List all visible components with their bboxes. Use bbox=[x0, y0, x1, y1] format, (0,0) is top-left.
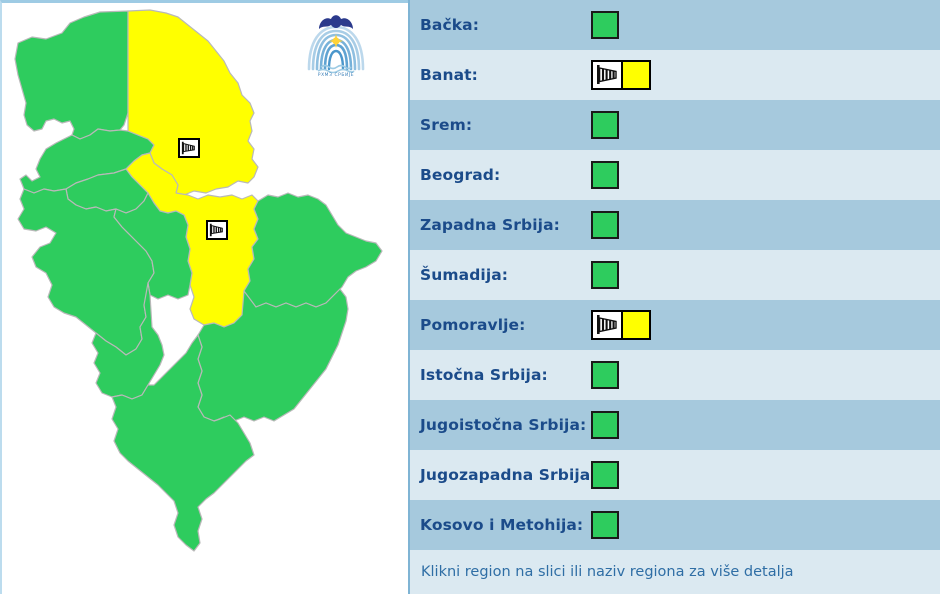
warning-badge-banat bbox=[591, 60, 651, 90]
warning-badge-jugoistocna-srbija bbox=[591, 411, 619, 439]
level-swatch-backa bbox=[591, 11, 619, 39]
region-label-srem[interactable]: Srem: bbox=[420, 116, 591, 134]
region-row-pomoravlje[interactable]: Pomoravlje: bbox=[410, 300, 940, 350]
region-label-backa[interactable]: Bačka: bbox=[420, 16, 591, 34]
map-region-istocna-srbija[interactable] bbox=[244, 193, 382, 307]
level-swatch-sumadija bbox=[591, 261, 619, 289]
region-row-zapadna-srbija[interactable]: Zapadna Srbija: bbox=[410, 200, 940, 250]
weather-warning-widget: РХМЗ СРБИЈЕ Bačka:Banat: Srem:Beograd:Za… bbox=[0, 0, 940, 594]
region-label-jugoistocna-srbija[interactable]: Jugoistočna Srbija: bbox=[420, 416, 591, 434]
level-swatch-pomoravlje bbox=[621, 310, 651, 340]
warning-badge-pomoravlje bbox=[591, 310, 651, 340]
serbia-map-svg bbox=[2, 3, 408, 594]
region-row-jugozapadna-srbija[interactable]: Jugozapadna Srbija: bbox=[410, 450, 940, 500]
windsock-icon bbox=[593, 62, 621, 88]
region-row-kosovo-i-metohija[interactable]: Kosovo i Metohija: bbox=[410, 500, 940, 550]
windsock-icon bbox=[593, 312, 621, 338]
region-label-istocna-srbija[interactable]: Istočna Srbija: bbox=[420, 366, 591, 384]
serbia-warning-map[interactable]: РХМЗ СРБИЈЕ bbox=[0, 0, 408, 594]
warning-badge-zapadna-srbija bbox=[591, 211, 619, 239]
level-swatch-istocna-srbija bbox=[591, 361, 619, 389]
footer-hint-text: Klikni region na slici ili naziv regiona… bbox=[421, 564, 794, 580]
region-row-banat[interactable]: Banat: bbox=[410, 50, 940, 100]
level-swatch-beograd bbox=[591, 161, 619, 189]
region-row-istocna-srbija[interactable]: Istočna Srbija: bbox=[410, 350, 940, 400]
warning-badge-kosovo-i-metohija bbox=[591, 511, 619, 539]
region-label-pomoravlje[interactable]: Pomoravlje: bbox=[420, 316, 591, 334]
level-swatch-kosovo-i-metohija bbox=[591, 511, 619, 539]
region-label-banat[interactable]: Banat: bbox=[420, 66, 591, 84]
region-row-srem[interactable]: Srem: bbox=[410, 100, 940, 150]
windsock-marker-pomoravlje[interactable] bbox=[206, 220, 228, 240]
level-swatch-jugoistocna-srbija bbox=[591, 411, 619, 439]
logo-caption: РХМЗ СРБИЈЕ bbox=[318, 72, 354, 77]
rhmz-srbije-logo: РХМЗ СРБИЈЕ bbox=[305, 11, 367, 77]
logo-cloud-icon bbox=[319, 15, 353, 29]
warning-badge-beograd bbox=[591, 161, 619, 189]
region-row-sumadija[interactable]: Šumadija: bbox=[410, 250, 940, 300]
logo-svg: РХМЗ СРБИЈЕ bbox=[305, 11, 367, 77]
warning-badge-istocna-srbija bbox=[591, 361, 619, 389]
windsock-indicator-banat bbox=[591, 60, 621, 90]
region-warning-list: Bačka:Banat: Srem:Beograd:Zapadna Srbija… bbox=[408, 0, 940, 594]
region-label-kosovo-i-metohija[interactable]: Kosovo i Metohija: bbox=[420, 516, 591, 534]
region-label-beograd[interactable]: Beograd: bbox=[420, 166, 591, 184]
map-region-backa[interactable] bbox=[15, 11, 128, 139]
region-row-beograd[interactable]: Beograd: bbox=[410, 150, 940, 200]
windsock-marker-banat[interactable] bbox=[178, 138, 200, 158]
level-swatch-jugozapadna-srbija bbox=[591, 461, 619, 489]
windsock-icon bbox=[180, 140, 198, 156]
level-swatch-banat bbox=[621, 60, 651, 90]
list-footer: Klikni region na slici ili naziv regiona… bbox=[410, 550, 940, 594]
warning-badge-srem bbox=[591, 111, 619, 139]
region-label-sumadija[interactable]: Šumadija: bbox=[420, 266, 591, 284]
windsock-indicator-pomoravlje bbox=[591, 310, 621, 340]
region-row-jugoistocna-srbija[interactable]: Jugoistočna Srbija: bbox=[410, 400, 940, 450]
level-swatch-zapadna-srbija bbox=[591, 211, 619, 239]
warning-badge-backa bbox=[591, 11, 619, 39]
region-row-backa[interactable]: Bačka: bbox=[410, 0, 940, 50]
warning-badge-jugozapadna-srbija bbox=[591, 461, 619, 489]
region-label-jugozapadna-srbija[interactable]: Jugozapadna Srbija: bbox=[420, 466, 591, 484]
warning-badge-sumadija bbox=[591, 261, 619, 289]
region-label-zapadna-srbija[interactable]: Zapadna Srbija: bbox=[420, 216, 591, 234]
windsock-icon bbox=[208, 222, 226, 238]
level-swatch-srem bbox=[591, 111, 619, 139]
